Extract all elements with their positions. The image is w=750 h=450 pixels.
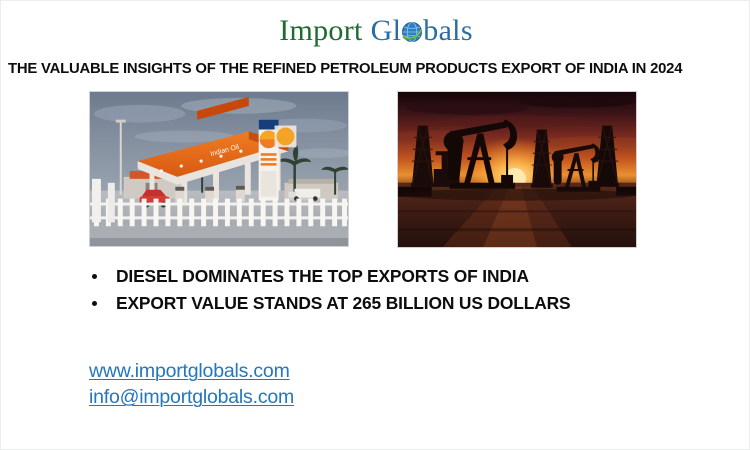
slide-canvas: ImportGl bals THE VALUABLE INSIGHTS OF T… <box>0 0 750 450</box>
list-item: EXPORT VALUE STANDS AT 265 BILLION US DO… <box>89 290 689 317</box>
oilfield-photo <box>397 91 637 248</box>
list-item: DIESEL DOMINATES THE TOP EXPORTS OF INDI… <box>89 263 689 290</box>
bullet-dot-icon <box>92 301 97 306</box>
logo-text-bals: bals <box>423 14 473 47</box>
list-item-label: DIESEL DOMINATES THE TOP EXPORTS OF INDI… <box>116 266 529 286</box>
contact-links: www.importglobals.com info@importglobals… <box>89 358 294 410</box>
email-link[interactable]: info@importglobals.com <box>89 384 294 410</box>
globe-icon <box>400 19 424 43</box>
page-title: THE VALUABLE INSIGHTS OF THE REFINED PET… <box>8 59 735 79</box>
bullet-dot-icon <box>92 274 97 279</box>
logo-text-import: Import <box>279 14 362 47</box>
list-item-label: EXPORT VALUE STANDS AT 265 BILLION US DO… <box>116 293 570 313</box>
brand-logo: ImportGl bals <box>1 15 750 47</box>
website-link[interactable]: www.importglobals.com <box>89 358 290 384</box>
logo-text-gl: Gl <box>371 14 402 47</box>
key-insights-list: DIESEL DOMINATES THE TOP EXPORTS OF INDI… <box>89 263 689 317</box>
petrol-station-photo: Indian Oil <box>89 91 349 247</box>
